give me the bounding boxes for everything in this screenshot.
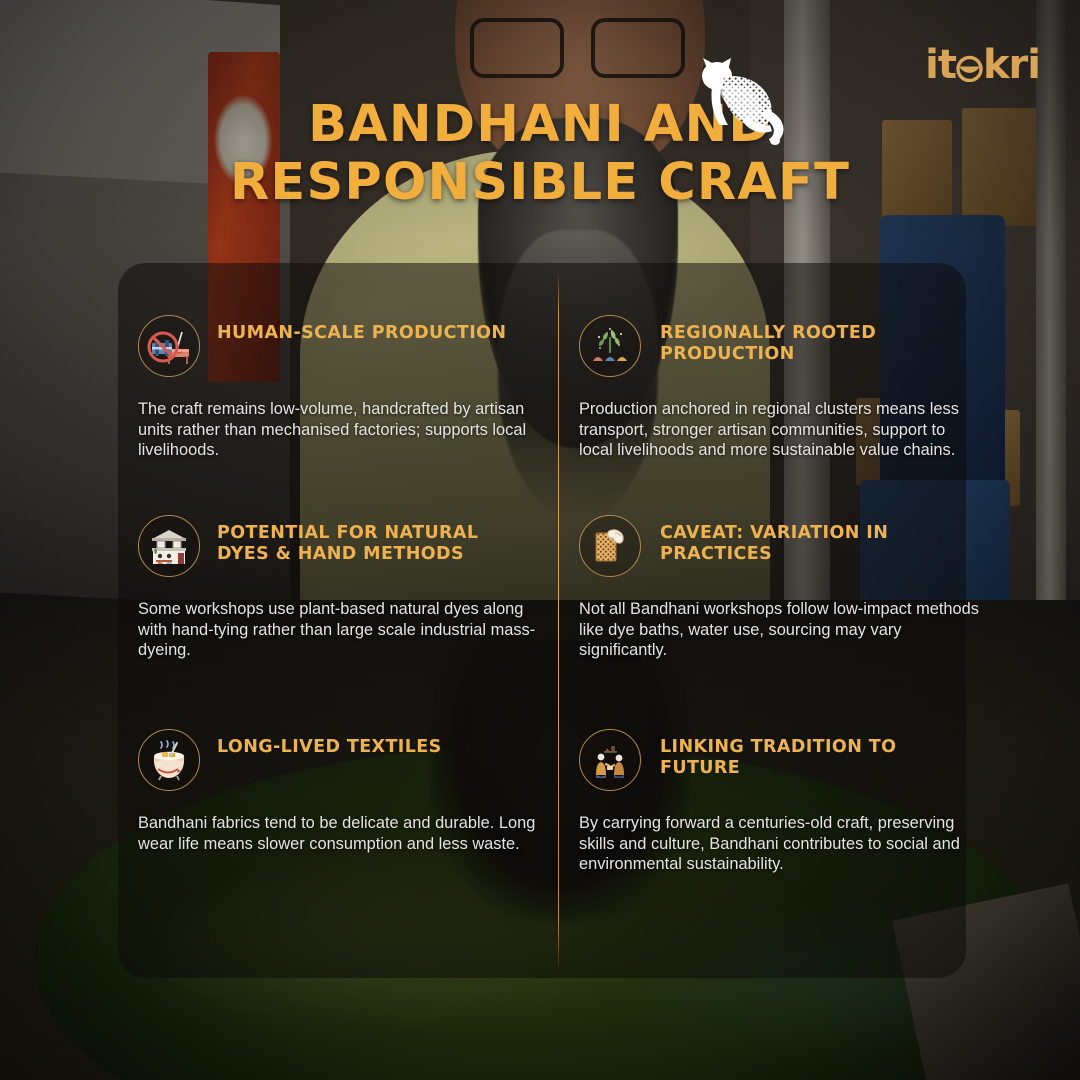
card-header: LINKING TRADITION TO FUTURE bbox=[579, 729, 987, 791]
card-caveat-variation-in-practices[interactable]: CAVEAT: VARIATION IN PRACTICES Not all B… bbox=[579, 515, 987, 661]
no-factory-icon bbox=[138, 315, 200, 377]
cat-illustration-icon bbox=[686, 53, 796, 153]
card-body: The craft remains low-volume, handcrafte… bbox=[138, 399, 538, 461]
content-panel: HUMAN-SCALE PRODUCTION The craft remains… bbox=[118, 263, 966, 978]
card-body: Production anchored in regional clusters… bbox=[579, 399, 979, 461]
card-long-lived-textiles[interactable]: LONG-LIVED TEXTILES Bandhani fabrics ten… bbox=[138, 729, 546, 854]
logo-text-before: it bbox=[925, 42, 956, 88]
column-divider bbox=[558, 271, 559, 971]
logo-basket-o-icon bbox=[956, 55, 983, 82]
card-regionally-rooted-production[interactable]: REGIONALLY ROOTED PRODUCTION Production … bbox=[579, 315, 987, 461]
card-potential-for-natural-dyes[interactable]: POTENTIAL FOR NATURAL DYES & HAND METHOD… bbox=[138, 515, 546, 661]
logo-text-after: kri bbox=[983, 42, 1040, 88]
seedling-soil-icon bbox=[579, 315, 641, 377]
card-title: POTENTIAL FOR NATURAL DYES & HAND METHOD… bbox=[217, 515, 527, 565]
card-body: By carrying forward a centuries-old craf… bbox=[579, 813, 979, 875]
hand-holding-fabric-icon bbox=[579, 515, 641, 577]
card-header: HUMAN-SCALE PRODUCTION bbox=[138, 315, 546, 377]
card-title: HUMAN-SCALE PRODUCTION bbox=[217, 315, 506, 344]
card-title: CAVEAT: VARIATION IN PRACTICES bbox=[658, 515, 968, 565]
page-title: BANDHANI AND RESPONSIBLE CRAFT bbox=[0, 96, 1080, 212]
card-header: LONG-LIVED TEXTILES bbox=[138, 729, 546, 791]
card-header: CAVEAT: VARIATION IN PRACTICES bbox=[579, 515, 987, 577]
itokri-logo[interactable]: itkri bbox=[925, 42, 1040, 88]
card-body: Some workshops use plant-based natural d… bbox=[138, 599, 538, 661]
card-linking-tradition-to-future[interactable]: LINKING TRADITION TO FUTURE By carrying … bbox=[579, 729, 987, 875]
two-artisans-icon bbox=[579, 729, 641, 791]
card-header: POTENTIAL FOR NATURAL DYES & HAND METHOD… bbox=[138, 515, 546, 577]
artisan-workshop-icon bbox=[138, 515, 200, 577]
steaming-dye-pot-icon bbox=[138, 729, 200, 791]
card-title: REGIONALLY ROOTED PRODUCTION bbox=[658, 315, 968, 365]
card-title: LINKING TRADITION TO FUTURE bbox=[658, 729, 968, 779]
card-header: REGIONALLY ROOTED PRODUCTION bbox=[579, 315, 987, 377]
card-title: LONG-LIVED TEXTILES bbox=[217, 729, 442, 758]
card-body: Not all Bandhani workshops follow low-im… bbox=[579, 599, 979, 661]
card-human-scale-production[interactable]: HUMAN-SCALE PRODUCTION The craft remains… bbox=[138, 315, 546, 461]
title-line-1: BANDHANI AND bbox=[0, 96, 1080, 154]
card-body: Bandhani fabrics tend to be delicate and… bbox=[138, 813, 538, 854]
title-line-2: RESPONSIBLE CRAFT bbox=[0, 154, 1080, 212]
